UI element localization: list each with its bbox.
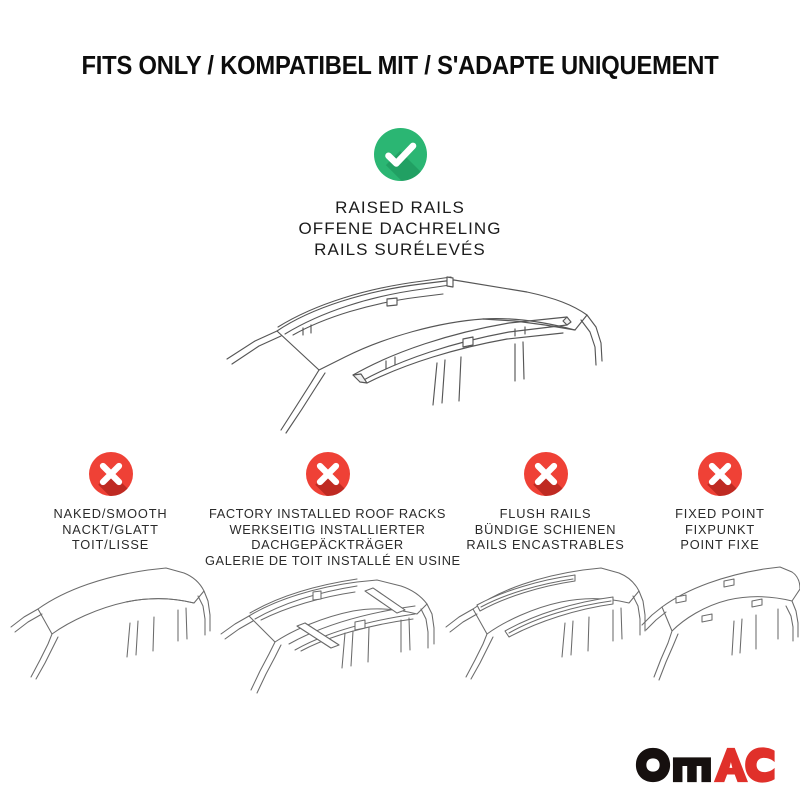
option-label-fr: RAILS ENCASTRABLES (443, 537, 648, 553)
car-roof-fixed-point-illustration (640, 561, 800, 681)
option-label-fr: GALERIE DE TOIT INSTALLÉ EN USINE (205, 553, 450, 569)
option-factory-installed-roof-racks: FACTORY INSTALLED ROOF RACKS WERKSEITIG … (205, 452, 450, 696)
option-label-en: FLUSH RAILS (443, 506, 648, 522)
option-label-en: FACTORY INSTALLED ROOF RACKS (205, 506, 450, 522)
option-fixed-point-labels: FIXED POINT FIXPUNKT POINT FIXE (640, 506, 800, 553)
compatible-label-fr: RAILS SURÉLEVÉS (0, 239, 800, 260)
check-circle-icon (374, 128, 427, 181)
option-label-de-line2: DACHGEPÄCKTRÄGER (205, 537, 450, 553)
option-label-en: NAKED/SMOOTH (8, 506, 213, 522)
incompatible-options: NAKED/SMOOTH NACKT/GLATT TOIT/LISSE (0, 452, 800, 702)
option-naked-smooth: NAKED/SMOOTH NACKT/GLATT TOIT/LISSE (8, 452, 213, 681)
compatible-section: RAISED RAILS OFFENE DACHRELING RAILS SUR… (0, 128, 800, 260)
option-label-fr: POINT FIXE (640, 537, 800, 553)
logo-letter-m (672, 757, 710, 782)
option-factory-racks-labels: FACTORY INSTALLED ROOF RACKS WERKSEITIG … (205, 506, 450, 568)
option-label-en: FIXED POINT (640, 506, 800, 522)
car-roof-raised-rails-illustration (215, 275, 615, 455)
page-title: FITS ONLY / KOMPATIBEL MIT / S'ADAPTE UN… (28, 52, 772, 81)
option-label-de: NACKT/GLATT (8, 522, 213, 538)
option-flush-rails-labels: FLUSH RAILS BÜNDIGE SCHIENEN RAILS ENCAS… (443, 506, 648, 553)
logo-letter-c (745, 747, 774, 782)
option-label-de: FIXPUNKT (640, 522, 800, 538)
compatible-label-en: RAISED RAILS (0, 197, 800, 218)
x-circle-icon (524, 452, 568, 496)
option-label-de: BÜNDIGE SCHIENEN (443, 522, 648, 538)
option-naked-smooth-labels: NAKED/SMOOTH NACKT/GLATT TOIT/LISSE (8, 506, 213, 553)
car-roof-flush-rails-illustration (443, 561, 648, 681)
x-circle-icon (698, 452, 742, 496)
option-fixed-point: FIXED POINT FIXPUNKT POINT FIXE (640, 452, 800, 681)
x-circle-icon (89, 452, 133, 496)
option-flush-rails: FLUSH RAILS BÜNDIGE SCHIENEN RAILS ENCAS… (443, 452, 648, 681)
compatible-labels: RAISED RAILS OFFENE DACHRELING RAILS SUR… (0, 197, 800, 260)
option-label-fr: TOIT/LISSE (8, 537, 213, 553)
car-roof-naked-illustration (8, 561, 213, 681)
compatible-label-de: OFFENE DACHRELING (0, 218, 800, 239)
logo-letter-o (635, 748, 669, 782)
omac-logo (634, 746, 777, 784)
car-roof-factory-racks-illustration (205, 576, 450, 696)
logo-letter-a (713, 748, 747, 782)
x-circle-icon (306, 452, 350, 496)
option-label-de-line1: WERKSEITIG INSTALLIERTER (205, 522, 450, 538)
